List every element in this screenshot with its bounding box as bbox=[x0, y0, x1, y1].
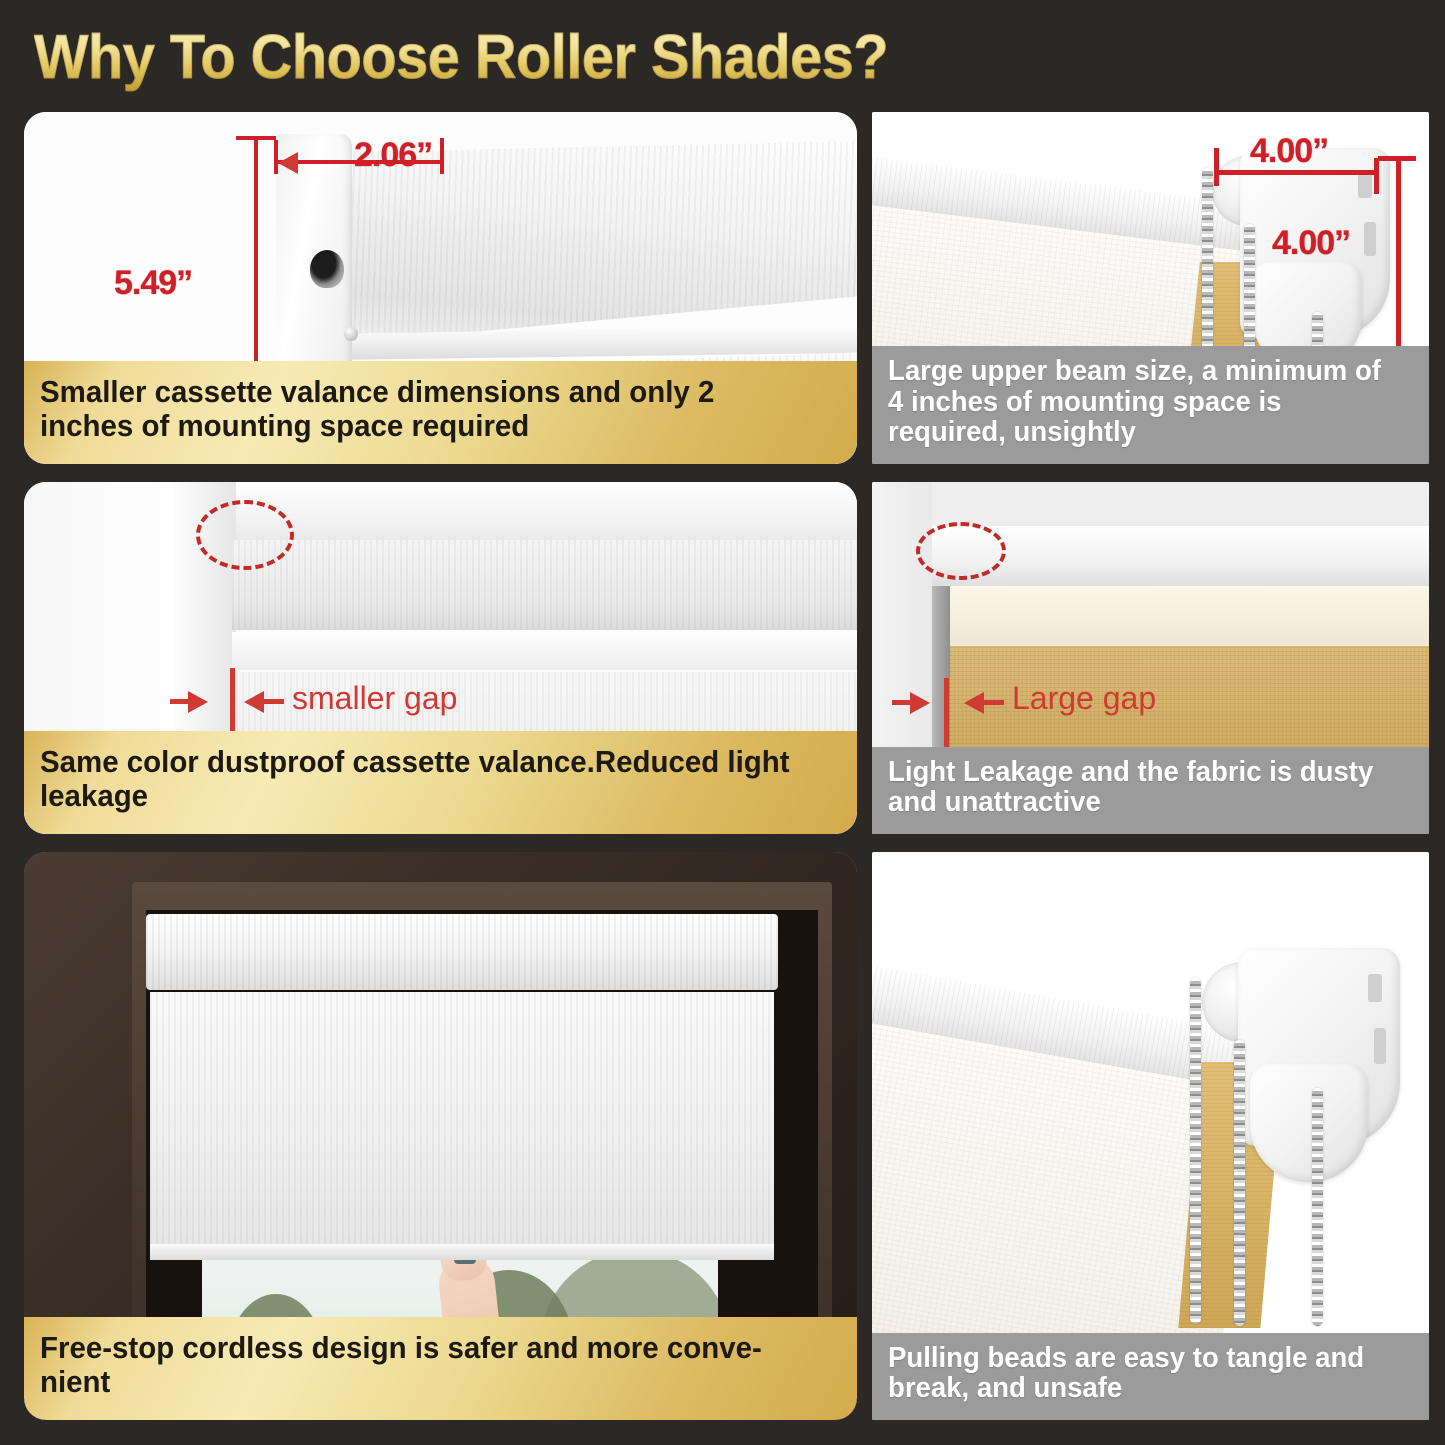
bracket-slot-1 bbox=[1358, 172, 1372, 198]
beam-height-line bbox=[1396, 158, 1401, 354]
beam-height-tick-top bbox=[1378, 156, 1416, 161]
beam-width-tick-right bbox=[1374, 158, 1379, 194]
bead-chain-middle bbox=[1234, 1040, 1245, 1326]
bracket-slot-2 bbox=[1374, 1028, 1386, 1064]
height-dimension-label: 5.49” bbox=[114, 264, 192, 303]
gap-arrow-right-tail bbox=[170, 699, 192, 704]
cream-fabric-band bbox=[950, 586, 1429, 648]
mounting-bracket-lower bbox=[1250, 1064, 1368, 1182]
page-title: Why To Choose Roller Shades? bbox=[34, 22, 888, 93]
gap-arrow-left-icon bbox=[964, 692, 984, 714]
panel-smaller-cassette[interactable]: 2.06” 5.49” Smaller cassette valance dim… bbox=[24, 112, 857, 464]
width-dimension-tick-right bbox=[440, 138, 444, 174]
panel-5-caption: Free-stop cordless design is safer and m… bbox=[24, 1317, 857, 1420]
panel-dustproof-valance[interactable]: smaller gap Same color dustproof cassett… bbox=[24, 482, 857, 834]
gap-arrow-left-tail bbox=[262, 699, 284, 704]
gap-arrow-left-icon bbox=[244, 691, 264, 713]
panel-3-caption: Same color dustproof cassette valance.Re… bbox=[24, 731, 857, 834]
height-dimension-tick-top bbox=[236, 136, 276, 140]
gap-callout-label: Large gap bbox=[1012, 680, 1156, 717]
highlight-circle-icon bbox=[196, 500, 294, 570]
panel-6-caption-text: Pulling beads are easy to tangle and bre… bbox=[888, 1343, 1389, 1404]
panel-pulling-beads[interactable]: Pulling beads are easy to tangle and bre… bbox=[872, 852, 1429, 1420]
panel-light-leakage[interactable]: Large gap Light Leakage and the fabric i… bbox=[872, 482, 1429, 834]
bracket-screw-upper-icon bbox=[344, 327, 358, 341]
beam-height-label: 4.00” bbox=[1272, 224, 1350, 263]
beam-width-tick-left bbox=[1214, 148, 1219, 186]
comparison-grid: 2.06” 5.49” Smaller cassette valance dim… bbox=[0, 104, 1445, 1445]
valance-under-rail bbox=[232, 632, 857, 670]
panel-5-caption-text: Free-stop cordless design is safer and m… bbox=[40, 1331, 801, 1398]
bracket-slot-1 bbox=[1368, 974, 1382, 1002]
shade-bottom-rail bbox=[150, 1244, 774, 1260]
bead-chain-left bbox=[1190, 978, 1201, 1324]
panel-4-caption: Light Leakage and the fabric is dusty an… bbox=[872, 747, 1429, 834]
gap-arrow-left-tail bbox=[982, 700, 1004, 705]
bead-chain-right bbox=[1312, 1088, 1323, 1326]
width-dimension-label: 2.06” bbox=[354, 136, 432, 175]
gap-arrow-right-tail bbox=[892, 700, 912, 705]
shade-fabric-panel bbox=[150, 992, 774, 1252]
width-arrow-left-icon bbox=[278, 152, 298, 174]
panel-1-caption-text: Smaller cassette valance dimensions and … bbox=[40, 375, 801, 442]
cassette-valance-head bbox=[146, 914, 778, 990]
bracket-slot-2 bbox=[1364, 222, 1376, 256]
beam-width-label: 4.00” bbox=[1250, 132, 1328, 171]
panel-2-caption: Large upper beam size, a minimum of 4 in… bbox=[872, 346, 1429, 464]
panel-2-caption-text: Large upper beam size, a minimum of 4 in… bbox=[888, 356, 1389, 448]
panel-1-caption: Smaller cassette valance dimensions and … bbox=[24, 361, 857, 464]
panel-cordless-design[interactable]: Free-stop cordless design is safer and m… bbox=[24, 852, 857, 1420]
header-bar: Why To Choose Roller Shades? bbox=[0, 0, 1445, 104]
gap-arrow-right-icon bbox=[910, 692, 930, 714]
panel-6-caption: Pulling beads are easy to tangle and bre… bbox=[872, 1333, 1429, 1420]
panel-4-caption-text: Light Leakage and the fabric is dusty an… bbox=[888, 757, 1389, 818]
gap-callout-label: smaller gap bbox=[292, 680, 457, 717]
roller-valance bbox=[932, 526, 1429, 592]
panel-large-upper-beam[interactable]: 4.00” 4.00” Large upper beam size, a min… bbox=[872, 112, 1429, 464]
panel-3-caption-text: Same color dustproof cassette valance.Re… bbox=[40, 745, 801, 812]
valance-face bbox=[232, 540, 857, 630]
highlight-circle-icon bbox=[916, 522, 1006, 580]
